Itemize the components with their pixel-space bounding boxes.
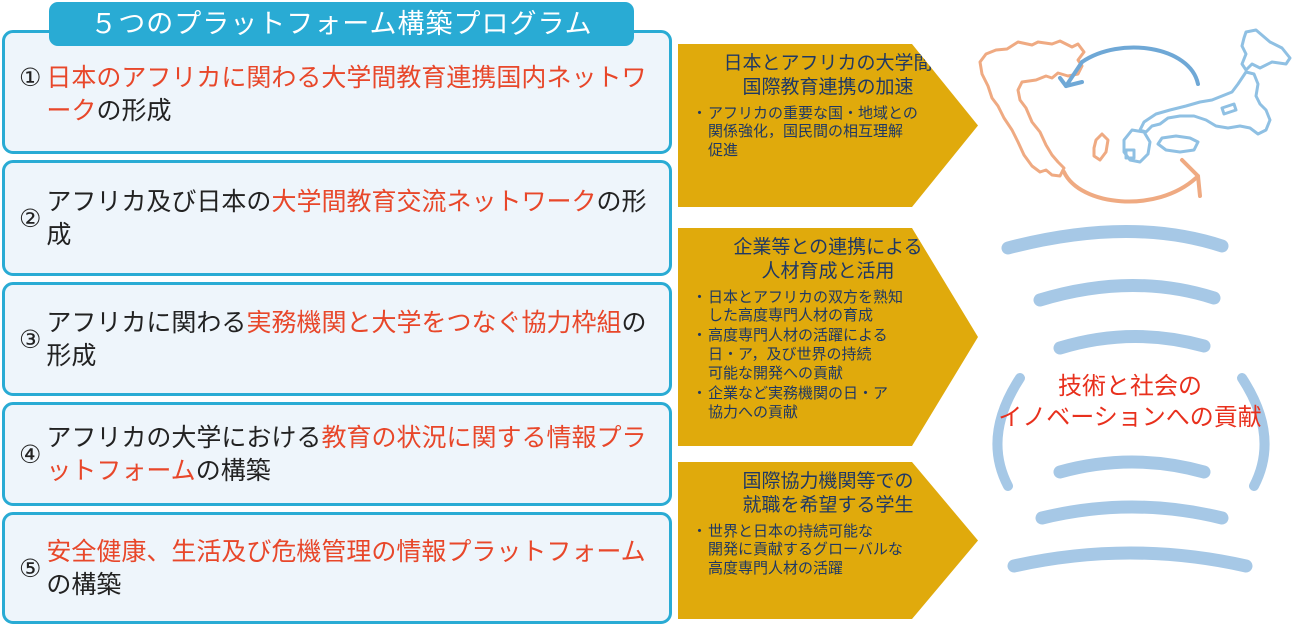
- list-item[interactable]: ④ アフリカの大学における教育の状況に関する情報プラットフォームの構築: [2, 402, 672, 506]
- bullet-line: 企業など実務機関の日・ア: [708, 384, 888, 402]
- arrow-bullets: ・ 日本とアフリカの双方を熟知 した高度専門人材の育成 ・ 高度専門人材の活躍に…: [688, 288, 920, 422]
- bullet-item: ・ 世界と日本の持続可能な 開発に貢献するグローバルな 高度専門人材の活躍: [692, 522, 920, 579]
- program-text: アフリカの大学における教育の状況に関する情報プラットフォームの構築: [46, 421, 655, 487]
- bullet-line: 開発に貢献するグローバルな: [708, 540, 903, 558]
- program-number: ④: [19, 438, 41, 471]
- ripple-arc-5: [1042, 507, 1222, 518]
- africa-japan-map: [960, 0, 1300, 215]
- bullet-line: 日・ア，及び世界の持続: [708, 345, 872, 363]
- japan-small-island-outline: [1126, 150, 1134, 158]
- program-text-segment: の構築: [46, 570, 121, 599]
- list-item[interactable]: ⑤ 安全健康、生活及び危機管理の情報プラットフォームの構築: [2, 512, 672, 624]
- bullet-text: アフリカの重要な国・地域との 関係強化，国民間の相互理解 促進: [708, 104, 920, 161]
- arrow-title: 日本とアフリカの大学間 国際教育連携の加速: [720, 52, 936, 100]
- ripple-arc-2: [1040, 285, 1214, 300]
- bullet-text: 日本とアフリカの双方を熟知 した高度専門人材の育成: [708, 288, 920, 326]
- bullet-text: 世界と日本の持続可能な 開発に貢献するグローバルな 高度専門人材の活躍: [708, 522, 920, 579]
- japan-shikoku-outline: [1158, 136, 1198, 152]
- outcome-arrow-3[interactable]: 国際協力機関等での 就職を希望する学生 ・ 世界と日本の持続可能な 開発に貢献す…: [678, 462, 978, 619]
- program-text-segment: 日本のアフリカに関わる大学間教育連携国内: [46, 63, 546, 92]
- madagascar-outline: [1094, 134, 1108, 160]
- program-text-segment: 安全健康、生活及び危機管理の情報プラットフォーム: [46, 537, 645, 566]
- right-graphic: 技術と社会の イノベーションへの貢献: [960, 0, 1300, 621]
- bullet-marker: ・: [692, 104, 707, 161]
- africa-to-japan-arrowhead: [1182, 160, 1200, 196]
- bullet-line: アフリカの重要な国・地域との: [708, 104, 918, 122]
- bullet-line: 協力への貢献: [708, 403, 798, 421]
- program-list: ① 日本のアフリカに関わる大学間教育連携国内ネットワークの形成 ② アフリカ及び…: [2, 30, 672, 630]
- program-text-segment: アフリカの大学における: [46, 423, 321, 452]
- arrow-title: 国際協力機関等での 就職を希望する学生: [720, 470, 936, 518]
- bullet-item: ・ 企業など実務機関の日・ア 協力への貢献: [692, 384, 920, 422]
- arrow-title-line: 国際協力機関等での: [720, 470, 936, 494]
- japan-to-africa-arrow: [1082, 48, 1198, 84]
- list-item[interactable]: ① 日本のアフリカに関わる大学間教育連携国内ネットワークの形成: [2, 30, 672, 154]
- diagram-root: ５つのプラットフォーム構築プログラム ① 日本のアフリカに関わる大学間教育連携国…: [0, 0, 1300, 621]
- innovation-caption: 技術と社会の イノベーションへの貢献: [960, 371, 1300, 433]
- outcome-arrow-1[interactable]: 日本とアフリカの大学間 国際教育連携の加速 ・ アフリカの重要な国・地域との 関…: [678, 44, 978, 207]
- arrow-title-line: 国際教育連携の加速: [720, 76, 936, 100]
- program-text-segment: の構築: [196, 456, 271, 485]
- list-item[interactable]: ② アフリカ及び日本の大学間教育交流ネットワークの形成: [2, 160, 672, 276]
- japan-outline: [1242, 30, 1290, 70]
- bullet-marker: ・: [692, 326, 707, 383]
- africa-outline: [980, 41, 1084, 176]
- bullet-line: 促進: [708, 141, 738, 159]
- ripple-arc-6: [1014, 553, 1246, 566]
- arrow-title-line: 就職を希望する学生: [720, 494, 936, 518]
- bullet-line: 高度専門人材の活躍: [708, 559, 843, 577]
- bullet-marker: ・: [692, 384, 707, 422]
- arrow-title-line: 人材育成と活用: [720, 260, 936, 284]
- africa-to-japan-arrow: [1064, 172, 1196, 202]
- arrow-bullets: ・ アフリカの重要な国・地域との 関係強化，国民間の相互理解 促進: [688, 104, 920, 161]
- program-text-segment: の形成: [96, 96, 171, 125]
- programs-panel: ５つのプラットフォーム構築プログラム ① 日本のアフリカに関わる大学間教育連携国…: [2, 30, 672, 615]
- program-text: 安全健康、生活及び危機管理の情報プラットフォームの構築: [46, 535, 655, 601]
- bullet-line: した高度専門人材の育成: [708, 306, 873, 324]
- panel-header: ５つのプラットフォーム構築プログラム: [49, 2, 634, 46]
- panel-title: ５つのプラットフォーム構築プログラム: [90, 11, 592, 38]
- list-item[interactable]: ③ アフリカに関わる実務機関と大学をつなぐ協力枠組の形成: [2, 282, 672, 396]
- caption-line: 技術と社会の: [960, 371, 1300, 402]
- bullet-marker: ・: [692, 522, 707, 579]
- bullet-line: 高度専門人材の活躍による: [708, 326, 888, 344]
- bullet-text: 企業など実務機関の日・ア 協力への貢献: [708, 384, 920, 422]
- program-number: ③: [19, 323, 41, 356]
- arrow-title-line: 日本とアフリカの大学間: [720, 52, 936, 76]
- bullet-line: 可能な開発への貢献: [708, 364, 843, 382]
- program-number: ②: [19, 202, 41, 235]
- ripple-arc-4: [1060, 462, 1204, 472]
- bullet-marker: ・: [692, 288, 707, 326]
- program-text: アフリカに関わる実務機関と大学をつなぐ協力枠組の形成: [46, 306, 655, 372]
- program-text-segment: アフリカに関わる: [46, 308, 246, 337]
- bullet-item: ・ 高度専門人材の活躍による 日・ア，及び世界の持続 可能な開発への貢献: [692, 326, 920, 383]
- program-text: 日本のアフリカに関わる大学間教育連携国内ネットワークの形成: [46, 61, 655, 127]
- arrow-bullets: ・ 世界と日本の持続可能な 開発に貢献するグローバルな 高度専門人材の活躍: [688, 522, 920, 579]
- program-number: ①: [19, 61, 41, 94]
- arrow-title-line: 企業等との連携による: [720, 236, 936, 260]
- program-number: ⑤: [19, 552, 41, 585]
- bullet-line: 関係強化，国民間の相互理解: [708, 122, 903, 140]
- bullet-line: 世界と日本の持続可能な: [708, 522, 873, 540]
- program-text: アフリカ及び日本の大学間教育交流ネットワークの形成: [46, 185, 655, 251]
- bullet-item: ・ 日本とアフリカの双方を熟知 した高度専門人材の育成: [692, 288, 920, 326]
- caption-line: イノベーションへの貢献: [960, 402, 1300, 433]
- program-text-segment: 実務機関と大学をつなぐ協力枠組: [246, 308, 621, 337]
- japan-okinawa-outline: [1222, 104, 1236, 114]
- program-text-segment: 大学間教育交流ネットワーク: [271, 187, 596, 216]
- bullet-line: 日本とアフリカの双方を熟知: [708, 288, 903, 306]
- ripple-arc-1: [1008, 231, 1222, 248]
- program-text-segment: アフリカ及び日本の: [46, 187, 271, 216]
- bullet-text: 高度専門人材の活躍による 日・ア，及び世界の持続 可能な開発への貢献: [708, 326, 920, 383]
- ripple-arc-3: [1060, 336, 1204, 348]
- bullet-item: ・ アフリカの重要な国・地域との 関係強化，国民間の相互理解 促進: [692, 104, 920, 161]
- outcome-arrow-2[interactable]: 企業等との連携による 人材育成と活用 ・ 日本とアフリカの双方を熟知 した高度専…: [678, 228, 978, 446]
- arrow-title: 企業等との連携による 人材育成と活用: [720, 236, 936, 284]
- japan-honshu-outline: [1140, 72, 1270, 134]
